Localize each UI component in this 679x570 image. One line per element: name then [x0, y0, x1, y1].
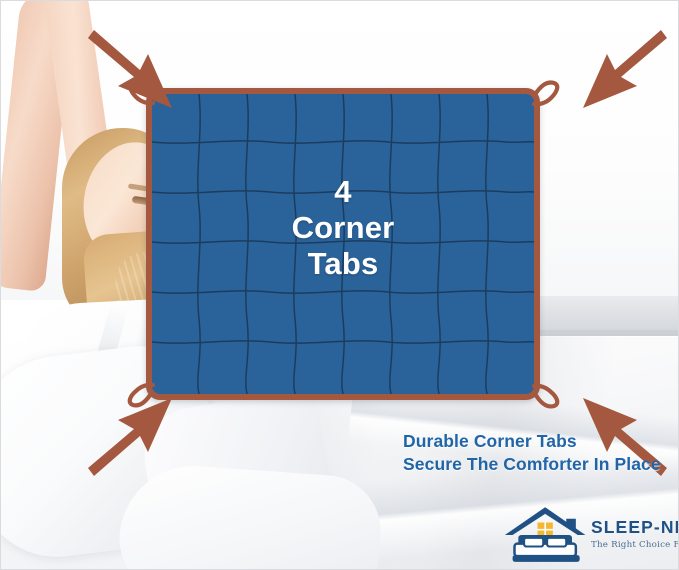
- product-image: 4 Corner Tabs Durable Corner Tabs Secure: [0, 0, 679, 570]
- window-icon: [538, 523, 553, 537]
- brand-name-part1: SLEEP: [591, 517, 654, 537]
- caption-line-2: Secure The Comforter In Place: [403, 453, 661, 476]
- brand-name-separator: -: [654, 517, 661, 537]
- caption-text: Durable Corner Tabs Secure The Comforter…: [403, 430, 661, 477]
- brand-logo: SLEEP-NEST The Right Choice For You: [503, 505, 675, 567]
- caption-line-1: Durable Corner Tabs: [403, 430, 661, 453]
- quilt-stitch-grid: [152, 94, 534, 394]
- brand-tagline: The Right Choice For You: [591, 540, 677, 550]
- logo-wordmark: SLEEP-NEST The Right Choice For You: [591, 519, 677, 550]
- house-bed-logo-icon: [503, 505, 595, 565]
- brand-name: SLEEP-NEST: [591, 519, 677, 537]
- brand-name-part2: NEST: [661, 517, 679, 537]
- bed-icon: [513, 535, 580, 562]
- comforter-graphic: 4 Corner Tabs: [146, 88, 540, 400]
